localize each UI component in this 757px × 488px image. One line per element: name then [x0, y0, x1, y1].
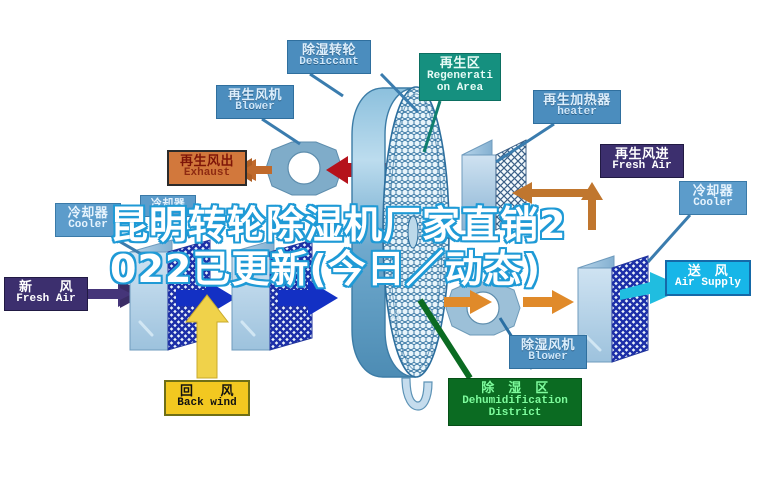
callout-regen-heater: 再生加热器heater — [533, 90, 621, 124]
page-title-line-1: 昆明转轮除湿机厂家直销2 — [110, 203, 650, 247]
callout-label-cn: 再生区 — [420, 56, 500, 70]
callout-desiccant-wheel: 除湿转轮Desiccant — [287, 40, 371, 74]
callout-label-en: Blower — [510, 352, 586, 364]
dehumidifier-principle-diagram: xt — [0, 0, 757, 488]
callout-label-cn: 回 风 — [166, 384, 248, 398]
arrow-dehum-out-2 — [523, 290, 574, 314]
diagram-watermark: xt — [390, 308, 401, 323]
callout-label-cn: 除湿风机 — [510, 338, 586, 352]
callout-fresh-air-in: 新 风Fresh Air — [4, 277, 88, 311]
callout-label-en: Fresh Air — [5, 294, 87, 306]
callout-label-en: Desiccant — [288, 57, 370, 69]
page-title: 昆明转轮除湿机厂家直销2 022已更新(今日／动态) — [110, 203, 650, 291]
callout-label-cn: 新 风 — [5, 280, 87, 294]
callout-label-en: Exhaust — [169, 168, 245, 180]
page-title-line-2: 022已更新(今日／动态) — [110, 247, 650, 291]
callout-label-cn: 再生风出 — [169, 154, 245, 168]
callout-label-cn: 除湿转轮 — [288, 43, 370, 57]
callout-label-cn: 送 风 — [667, 264, 749, 278]
callout-label-en: Air Supply — [667, 278, 749, 290]
callout-label-en: Blower — [217, 102, 293, 114]
callout-regen-blower: 再生风机Blower — [216, 85, 294, 119]
callout-label-cn: 除 湿 区 — [449, 381, 581, 395]
callout-label-en: heater — [534, 107, 620, 119]
callout-label-cn: 冷却器 — [680, 184, 746, 198]
callout-label-cn: 再生加热器 — [534, 93, 620, 107]
callout-dehumidification-district: 除 湿 区Dehumidification District — [448, 378, 582, 426]
callout-label-cn: 再生风进 — [601, 147, 683, 161]
callout-label-en: Fresh Air — [601, 161, 683, 173]
callout-label-en: Regenerati on Area — [420, 70, 500, 94]
callout-back-wind: 回 风Back wind — [164, 380, 250, 416]
callout-dehumidification-blower: 除湿风机Blower — [509, 335, 587, 369]
callout-exhaust: 再生风出Exhaust — [167, 150, 247, 186]
callout-label-en: Cooler — [680, 198, 746, 210]
callout-air-supply: 送 风Air Supply — [665, 260, 751, 296]
callout-label-cn: 再生风机 — [217, 88, 293, 102]
callout-regeneration-area: 再生区Regenerati on Area — [419, 53, 501, 101]
callout-label-en: Dehumidification District — [449, 395, 581, 419]
callout-label-en: Back wind — [166, 398, 248, 410]
callout-regen-fresh-air-in: 再生风进Fresh Air — [600, 144, 684, 178]
callout-cooler-right: 冷却器Cooler — [679, 181, 747, 215]
